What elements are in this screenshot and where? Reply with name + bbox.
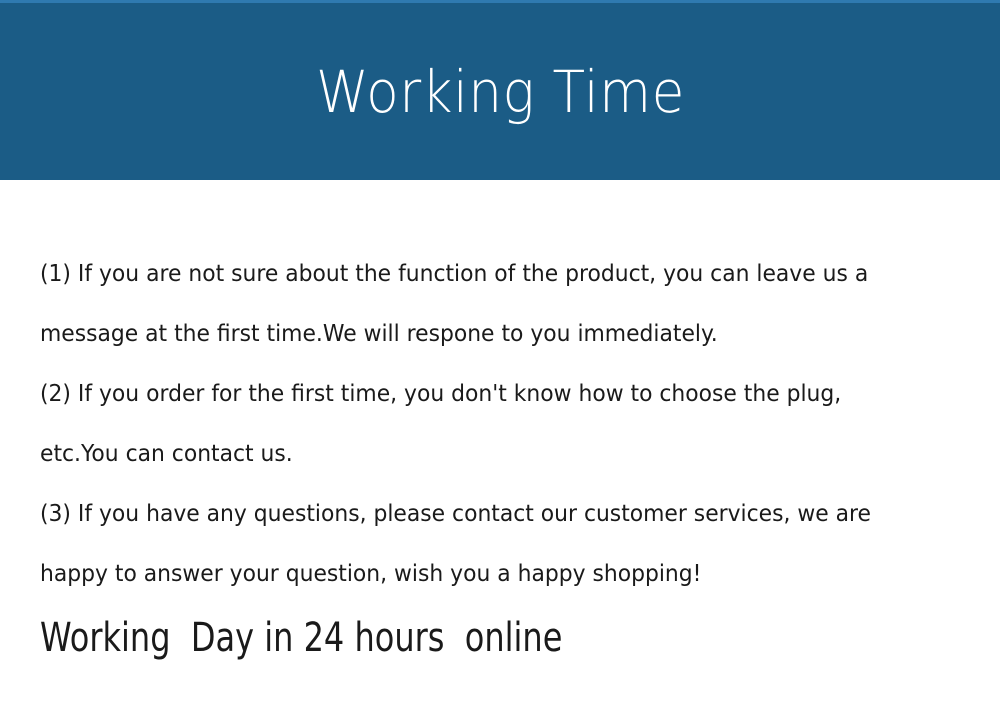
- banner-header: Working Time: [0, 0, 1000, 180]
- working-hours-statement: Working Day in 24 hours online: [40, 612, 808, 664]
- body-line-4: etc.You can contact us.: [40, 423, 933, 483]
- page-title: Working Time: [316, 63, 685, 121]
- body-line-6: happy to answer your question, wish you …: [40, 543, 933, 603]
- body-line-5: (3) If you have any questions, please co…: [40, 483, 933, 543]
- body-line-2: message at the first time.We will respon…: [40, 303, 933, 363]
- body-line-3: (2) If you order for the first time, you…: [40, 363, 933, 423]
- body-line-1: (1) If you are not sure about the functi…: [40, 243, 933, 303]
- banner-body: (1) If you are not sure about the functi…: [0, 180, 1000, 724]
- working-time-banner: Working Time (1) If you are not sure abo…: [0, 0, 1000, 724]
